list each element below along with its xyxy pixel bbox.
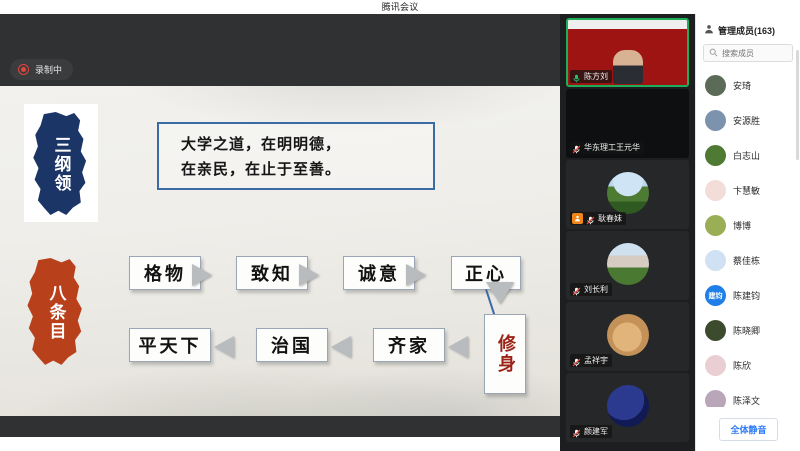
quote-line-1: 大学之道，在明明德， xyxy=(181,133,341,154)
participant-avatar xyxy=(705,320,726,341)
participant-name: 白志山 xyxy=(733,149,760,162)
mic-on-icon xyxy=(572,71,581,82)
search-icon xyxy=(709,44,718,62)
tile-avatar xyxy=(607,243,649,285)
seal-eight-items: 八条目 xyxy=(22,258,90,366)
tile-name-chip: 耿春妹 xyxy=(570,212,626,225)
video-tile[interactable]: 刘长利 xyxy=(566,231,689,300)
flow-box-zhiguo: 治国 xyxy=(256,328,328,362)
panel-scrollbar[interactable] xyxy=(796,50,799,160)
recording-label: 录制中 xyxy=(35,63,62,76)
participant-avatar xyxy=(705,215,726,236)
tile-name-chip: 华东理工王元华 xyxy=(570,141,644,154)
search-input[interactable] xyxy=(722,49,787,58)
seal-three-principles-text: 三纲领 xyxy=(49,136,74,193)
participant-avatar xyxy=(705,110,726,131)
participant-row[interactable]: 陈晓卿 xyxy=(696,313,800,348)
participants-list[interactable]: 安琦安源胜白志山卞慧敏博博蔡佳栋建钧陈建钧陈晓卿陈欣陈泽文程军 xyxy=(696,68,800,423)
seal-eight-items-text: 八条目 xyxy=(44,284,69,341)
participant-name: 陈欣 xyxy=(733,359,751,372)
recording-badge[interactable]: 录制中 xyxy=(10,59,73,80)
participant-row[interactable]: 安琦 xyxy=(696,68,800,103)
shared-slide: 三纲领 大学之道，在明明德， 在亲民，在止于至善。 八条目 格物 致知 诚意 正… xyxy=(0,86,560,416)
video-filmstrip[interactable]: 陈方刘华东理工王元华耿春妹刘长利孟祥宇颜建军 xyxy=(560,14,695,451)
flow-box-xiushen: 修身 xyxy=(484,314,526,394)
tile-participant-name: 华东理工王元华 xyxy=(584,142,640,153)
participant-row[interactable]: 博博 xyxy=(696,208,800,243)
slide-quote-box: 大学之道，在明明德， 在亲民，在止于至善。 xyxy=(157,122,435,190)
participants-search-wrap xyxy=(696,44,800,68)
participant-avatar xyxy=(705,355,726,376)
participants-title: 管理成员(163) xyxy=(718,24,775,37)
window-title: 腾讯会议 xyxy=(382,0,419,14)
quote-line-2: 在亲民，在止于至善。 xyxy=(181,158,341,179)
participant-row[interactable]: 卞慧敏 xyxy=(696,173,800,208)
tile-name-chip: 颜建军 xyxy=(570,425,612,438)
share-stage: 录制中 三纲领 大学之道，在明明德， 在亲民，在止于至善。 八条目 xyxy=(0,14,560,437)
avatar-initials: 建钧 xyxy=(705,285,726,306)
flow-box-gewu: 格物 xyxy=(129,256,201,290)
flow-box-zhizhi: 致知 xyxy=(236,256,308,290)
participant-row[interactable]: 蔡佳栋 xyxy=(696,243,800,278)
participant-name: 安源胜 xyxy=(733,114,760,127)
participant-name: 陈泽文 xyxy=(733,394,760,407)
video-tile[interactable]: 孟祥宇 xyxy=(566,302,689,371)
meeting-window: 腾讯会议 录制中 三纲领 大学之道，在明明德， 在亲民，在止于至善。 xyxy=(0,0,800,451)
participant-avatar xyxy=(705,180,726,201)
participant-name: 蔡佳栋 xyxy=(733,254,760,267)
flow-arrow-down xyxy=(486,282,514,304)
participant-row[interactable]: 安源胜 xyxy=(696,103,800,138)
tile-participant-name: 颜建军 xyxy=(584,426,608,437)
participant-avatar xyxy=(705,145,726,166)
host-badge-icon xyxy=(572,213,583,224)
tile-name-chip: 孟祥宇 xyxy=(570,354,612,367)
window-titlebar: 腾讯会议 xyxy=(0,0,800,14)
flow-arrow-right-3 xyxy=(406,264,426,286)
stage-topbar xyxy=(0,14,560,45)
participant-row[interactable]: 陈欣 xyxy=(696,348,800,383)
record-dot-icon xyxy=(18,64,29,75)
video-tile[interactable]: 华东理工王元华 xyxy=(566,89,689,158)
video-tile[interactable]: 颜建军 xyxy=(566,373,689,442)
tile-participant-name: 耿春妹 xyxy=(598,213,622,224)
flow-arrow-left-2 xyxy=(331,336,351,358)
participant-avatar xyxy=(705,75,726,96)
mute-all-button[interactable]: 全体静音 xyxy=(719,418,777,441)
people-icon xyxy=(704,21,714,39)
search-box[interactable] xyxy=(703,44,793,62)
participant-name: 博博 xyxy=(733,219,751,232)
tile-name-chip: 陈方刘 xyxy=(570,70,612,83)
mic-off-icon xyxy=(572,355,581,366)
participant-row[interactable]: 白志山 xyxy=(696,138,800,173)
mic-off-icon xyxy=(572,426,581,437)
tile-participant-name: 陈方刘 xyxy=(584,71,608,82)
participant-avatar: 建钧 xyxy=(705,285,726,306)
mic-off-icon xyxy=(572,284,581,295)
mic-off-icon xyxy=(586,213,595,224)
participants-footer: 全体静音 xyxy=(696,407,800,451)
participant-name: 卞慧敏 xyxy=(733,184,760,197)
flow-box-pingtianxia: 平天下 xyxy=(129,328,211,362)
flow-arrow-left-3 xyxy=(448,336,468,358)
tile-avatar xyxy=(607,172,649,214)
participant-name: 安琦 xyxy=(733,79,751,92)
tile-avatar xyxy=(607,385,649,427)
flow-arrow-right-1 xyxy=(192,264,212,286)
participants-header: 管理成员(163) xyxy=(696,14,800,44)
mic-off-icon xyxy=(572,142,581,153)
participant-name: 陈晓卿 xyxy=(733,324,760,337)
tile-participant-name: 刘长利 xyxy=(584,284,608,295)
flow-box-chengyi: 诚意 xyxy=(343,256,415,290)
flow-arrow-right-2 xyxy=(299,264,319,286)
participants-panel: 管理成员(163) 安琦安源胜白志山卞慧敏博博蔡佳栋建钧陈建钧陈晓卿陈欣陈泽文程… xyxy=(695,14,800,451)
video-tile[interactable]: 陈方刘 xyxy=(566,18,689,87)
tile-participant-name: 孟祥宇 xyxy=(584,355,608,366)
participant-avatar xyxy=(705,250,726,271)
tile-speaker-figure xyxy=(613,50,643,84)
participant-row[interactable]: 建钧陈建钧 xyxy=(696,278,800,313)
tile-name-chip: 刘长利 xyxy=(570,283,612,296)
flow-box-qijia: 齐家 xyxy=(373,328,445,362)
flow-arrow-left-1 xyxy=(214,336,234,358)
participant-name: 陈建钧 xyxy=(733,289,760,302)
video-tile[interactable]: 耿春妹 xyxy=(566,160,689,229)
seal-three-principles: 三纲领 xyxy=(28,112,94,216)
tile-avatar xyxy=(607,314,649,356)
